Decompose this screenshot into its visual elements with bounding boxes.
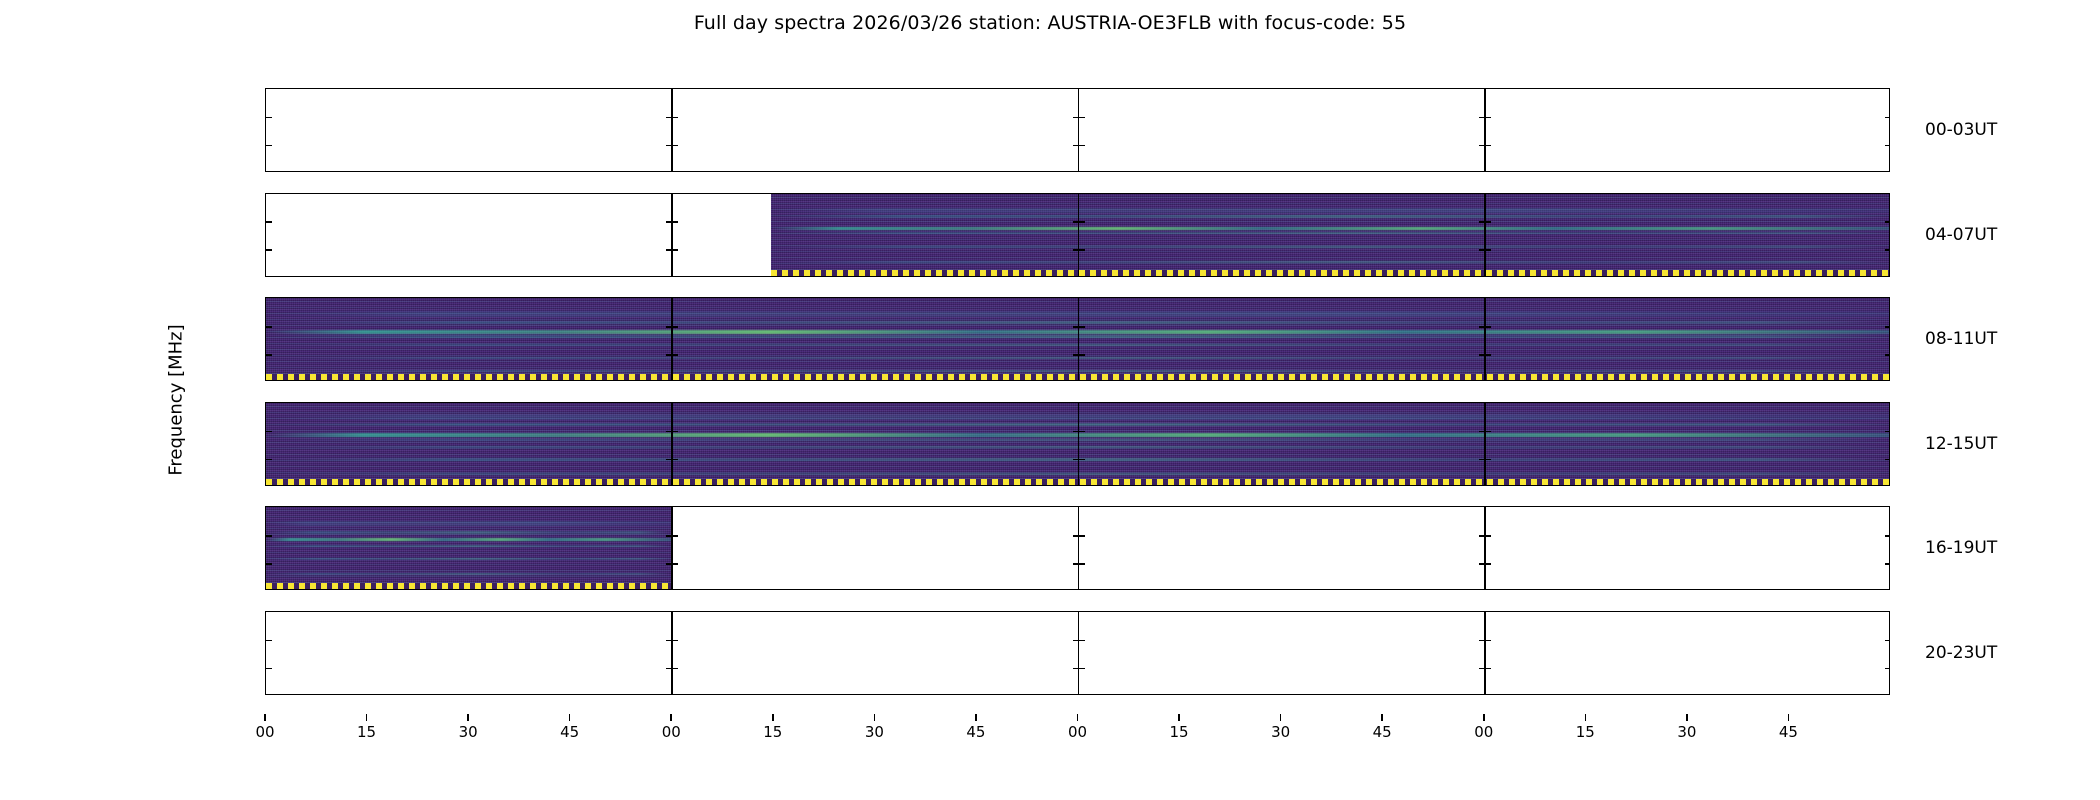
y-tick-mark <box>1485 431 1491 433</box>
y-tick-mark <box>1079 431 1085 433</box>
y-tick-mark <box>1079 563 1085 565</box>
saturation-strip <box>266 583 671 589</box>
y-tick-mark <box>1885 640 1890 642</box>
y-axis-label: Frequency [MHz] <box>166 324 187 475</box>
spectrogram-row-12-15ut[interactable] <box>265 402 1890 486</box>
y-tick-mark <box>1485 459 1491 461</box>
y-tick-mark <box>672 249 678 251</box>
hour-separator <box>1078 403 1080 485</box>
row-label-04-07ut: 04-07UT <box>1925 225 1997 245</box>
y-tick-mark <box>672 668 678 670</box>
y-tick-mark <box>1485 221 1491 223</box>
emission-streak <box>266 545 671 547</box>
y-tick-mark <box>266 459 272 461</box>
x-tick-label: 00 <box>1474 723 1493 741</box>
x-tick-mark <box>1178 714 1180 721</box>
y-tick-mark <box>1885 535 1890 537</box>
y-tick-mark <box>266 640 272 642</box>
spectrogram-data <box>266 507 671 589</box>
emission-streak <box>771 227 1890 230</box>
hour-separator <box>1484 403 1486 485</box>
y-tick-mark <box>1079 221 1085 223</box>
y-tick-mark <box>266 668 272 670</box>
y-tick-mark <box>266 145 272 147</box>
hour-separator <box>1078 298 1080 380</box>
x-tick-label: 00 <box>662 723 681 741</box>
figure-title: Full day spectra 2026/03/26 station: AUS… <box>0 12 2100 34</box>
y-tick-mark <box>1485 668 1491 670</box>
x-tick-mark <box>1585 714 1587 721</box>
y-tick-mark <box>1885 563 1890 565</box>
x-tick-label: 15 <box>357 723 376 741</box>
x-tick-mark <box>1483 714 1485 721</box>
y-tick-mark <box>672 431 678 433</box>
y-tick-mark <box>1885 221 1890 223</box>
emission-streak <box>266 531 671 534</box>
hour-separator <box>1484 507 1486 589</box>
x-tick-mark <box>264 714 266 721</box>
hour-separator <box>1078 507 1080 589</box>
x-tick-mark <box>1280 714 1282 721</box>
emission-streak <box>266 558 671 560</box>
row-label-12-15ut: 12-15UT <box>1925 434 1997 454</box>
emission-streak <box>771 261 1890 263</box>
y-tick-mark <box>672 326 678 328</box>
x-tick-label: 15 <box>763 723 782 741</box>
x-tick-label: 45 <box>1779 723 1798 741</box>
x-tick-mark <box>1788 714 1790 721</box>
x-tick-label: 00 <box>1068 723 1087 741</box>
hour-separator <box>671 89 673 171</box>
plot-grid <box>265 88 1890 714</box>
emission-streak <box>771 232 1890 234</box>
y-tick-mark <box>1485 117 1491 119</box>
row-label-08-11ut: 08-11UT <box>1925 329 1997 349</box>
emission-streak <box>771 215 1890 218</box>
y-tick-mark <box>672 354 678 356</box>
emission-streak <box>771 246 1890 248</box>
x-tick-label: 45 <box>966 723 985 741</box>
y-tick-mark <box>1885 249 1890 251</box>
y-tick-mark <box>1885 431 1890 433</box>
y-tick-mark <box>1079 326 1085 328</box>
spectrogram-row-08-11ut[interactable] <box>265 297 1890 381</box>
spectrogram-figure: Full day spectra 2026/03/26 station: AUS… <box>0 0 2100 800</box>
x-tick-mark <box>975 714 977 721</box>
hour-separator <box>1484 298 1486 380</box>
y-tick-mark <box>1885 145 1890 147</box>
y-tick-mark <box>672 117 678 119</box>
hour-separator <box>1078 89 1080 171</box>
x-tick-mark <box>1686 714 1688 721</box>
hour-separator <box>1484 612 1486 694</box>
noise-texture-fine <box>266 507 671 589</box>
x-tick-mark <box>366 714 368 721</box>
x-tick-label: 45 <box>560 723 579 741</box>
y-tick-mark <box>1079 535 1085 537</box>
y-tick-mark <box>266 431 272 433</box>
row-label-16-19ut: 16-19UT <box>1925 538 1997 558</box>
y-tick-mark <box>1485 326 1491 328</box>
y-tick-mark <box>672 459 678 461</box>
spectrogram-row-04-07ut[interactable] <box>265 193 1890 277</box>
y-tick-mark <box>1885 354 1890 356</box>
x-tick-mark <box>1077 714 1079 721</box>
x-tick-mark <box>772 714 774 721</box>
y-tick-mark <box>1079 117 1085 119</box>
y-tick-mark <box>266 535 272 537</box>
hour-separator <box>1078 612 1080 694</box>
y-tick-mark <box>266 563 272 565</box>
emission-streak <box>771 208 1890 213</box>
noise-texture-fine <box>771 194 1890 276</box>
y-tick-mark <box>1885 459 1890 461</box>
x-tick-label: 15 <box>1576 723 1595 741</box>
y-tick-mark <box>1079 354 1085 356</box>
x-tick-label: 45 <box>1373 723 1392 741</box>
y-tick-mark <box>1079 668 1085 670</box>
x-tick-label: 30 <box>865 723 884 741</box>
x-tick-mark <box>874 714 876 721</box>
hour-separator <box>671 612 673 694</box>
hour-separator <box>671 298 673 380</box>
hour-separator <box>1484 194 1486 276</box>
x-tick-label: 15 <box>1170 723 1189 741</box>
y-tick-mark <box>1079 459 1085 461</box>
y-tick-mark <box>1485 563 1491 565</box>
y-tick-mark <box>1885 117 1890 119</box>
y-tick-mark <box>672 563 678 565</box>
row-label-00-03ut: 00-03UT <box>1925 120 1997 140</box>
x-tick-mark <box>670 714 672 721</box>
y-tick-mark <box>266 249 272 251</box>
x-axis: 00153045001530450015304500153045 <box>265 714 1890 754</box>
y-tick-mark <box>266 354 272 356</box>
x-tick-mark <box>569 714 571 721</box>
hour-separator <box>671 403 673 485</box>
x-tick-label: 30 <box>1677 723 1696 741</box>
y-tick-mark <box>266 221 272 223</box>
spectrogram-row-20-23ut[interactable] <box>265 611 1890 695</box>
x-tick-label: 00 <box>255 723 274 741</box>
y-tick-mark <box>672 640 678 642</box>
y-tick-mark <box>1079 249 1085 251</box>
y-tick-mark <box>1885 668 1890 670</box>
y-tick-mark <box>266 326 272 328</box>
emission-streak <box>266 573 671 575</box>
spectrogram-data <box>771 194 1890 276</box>
y-tick-mark <box>1079 145 1085 147</box>
hour-separator <box>1078 194 1080 276</box>
hour-separator <box>671 507 673 589</box>
y-tick-mark <box>672 145 678 147</box>
x-tick-mark <box>467 714 469 721</box>
y-tick-mark <box>672 535 678 537</box>
y-tick-mark <box>266 117 272 119</box>
y-tick-mark <box>1079 640 1085 642</box>
y-tick-mark <box>1485 354 1491 356</box>
hour-separator <box>1484 89 1486 171</box>
y-tick-mark <box>1485 249 1491 251</box>
y-tick-mark <box>1485 535 1491 537</box>
spectrogram-row-16-19ut[interactable] <box>265 506 1890 590</box>
emission-streak <box>266 521 671 526</box>
x-tick-label: 30 <box>1271 723 1290 741</box>
y-tick-mark <box>1885 326 1890 328</box>
x-tick-mark <box>1381 714 1383 721</box>
spectrogram-row-00-03ut[interactable] <box>265 88 1890 172</box>
saturation-strip <box>771 270 1890 276</box>
emission-streak <box>266 538 671 541</box>
x-tick-label: 30 <box>459 723 478 741</box>
row-label-20-23ut: 20-23UT <box>1925 643 1997 663</box>
y-tick-mark <box>1485 145 1491 147</box>
hour-separator <box>671 194 673 276</box>
y-tick-mark <box>672 221 678 223</box>
y-tick-mark <box>1485 640 1491 642</box>
